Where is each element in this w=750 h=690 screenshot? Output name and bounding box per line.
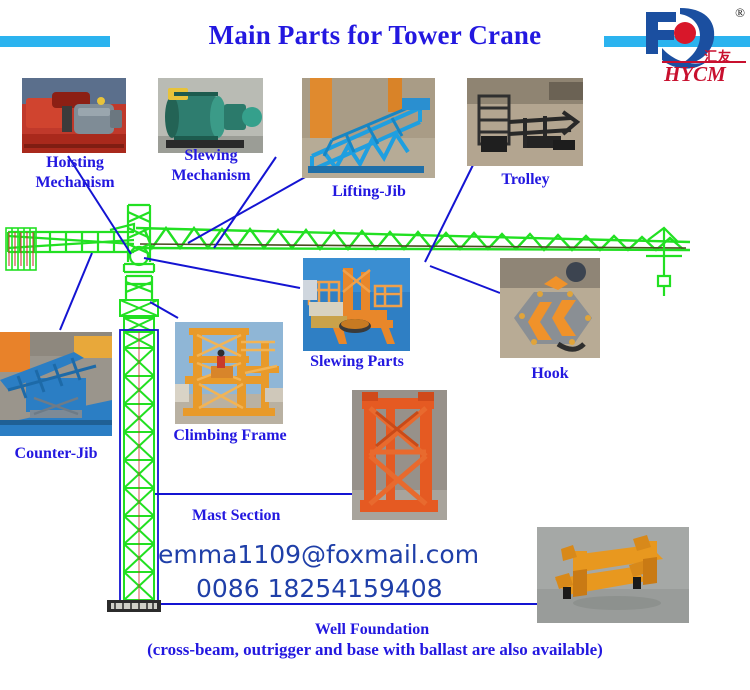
- callout-label-well-foundation: Well Foundation: [288, 620, 456, 640]
- logo-wordmark: HYCM: [664, 62, 726, 87]
- photo-slewing-mechanism: [158, 78, 263, 153]
- mast-highlight-box: [120, 330, 158, 608]
- leader-lines: [60, 156, 538, 604]
- photo-hoisting-mechanism: [22, 78, 126, 153]
- photo-climbing-frame: [175, 322, 283, 424]
- slide-canvas: Main Parts for Tower Crane ® 汇友 HYCM: [0, 0, 750, 690]
- photo-mast-section: [352, 390, 447, 520]
- callout-label-slewing-parts: Slewing Parts: [293, 352, 421, 372]
- page-title: Main Parts for Tower Crane: [150, 20, 600, 51]
- photo-hook: [500, 258, 600, 358]
- crane-lifting-jib: [136, 228, 690, 250]
- crane-hook-assembly: [646, 228, 682, 296]
- callout-label-counter-jib: Counter-Jib: [0, 444, 112, 464]
- crane-tie-bar: [140, 244, 686, 248]
- crane-mast: [124, 332, 154, 612]
- photo-counter-jib: [0, 332, 112, 436]
- photo-lifting-jib: [302, 78, 435, 178]
- crane-tower-head: [124, 205, 154, 300]
- footer-note: (cross-beam, outrigger and base with bal…: [70, 640, 680, 660]
- registered-trademark-icon: ®: [735, 5, 745, 21]
- crane-ballast-detail: [9, 232, 33, 266]
- contact-phone[interactable]: 0086 18254159408: [196, 574, 443, 603]
- photo-well-foundation: [537, 527, 689, 623]
- crane-slewing-table: [120, 300, 158, 332]
- header-accent-bar-left: [0, 36, 110, 47]
- callout-label-hoisting-mechanism: Hoisting Mechanism: [10, 153, 140, 193]
- photo-trolley: [467, 78, 583, 166]
- hycm-logo: ® 汇友 HYCM: [640, 4, 748, 78]
- contact-email[interactable]: emma1109@foxmail.com: [158, 540, 479, 569]
- highlight-boxes: [120, 330, 158, 608]
- callout-label-mast-section: Mast Section: [192, 506, 280, 526]
- crane-ballast: [6, 228, 36, 270]
- callout-label-lifting-jib: Lifting-Jib: [303, 182, 435, 202]
- callout-label-climbing-frame: Climbing Frame: [157, 426, 303, 446]
- photo-slewing-parts: [303, 258, 410, 351]
- crane-counter-jib: [8, 224, 134, 252]
- callout-label-trolley: Trolley: [468, 170, 583, 190]
- callout-label-hook: Hook: [500, 364, 600, 384]
- photo-mast-base-foundation: [107, 600, 161, 612]
- callout-label-slewing-mechanism: Slewing Mechanism: [146, 146, 276, 186]
